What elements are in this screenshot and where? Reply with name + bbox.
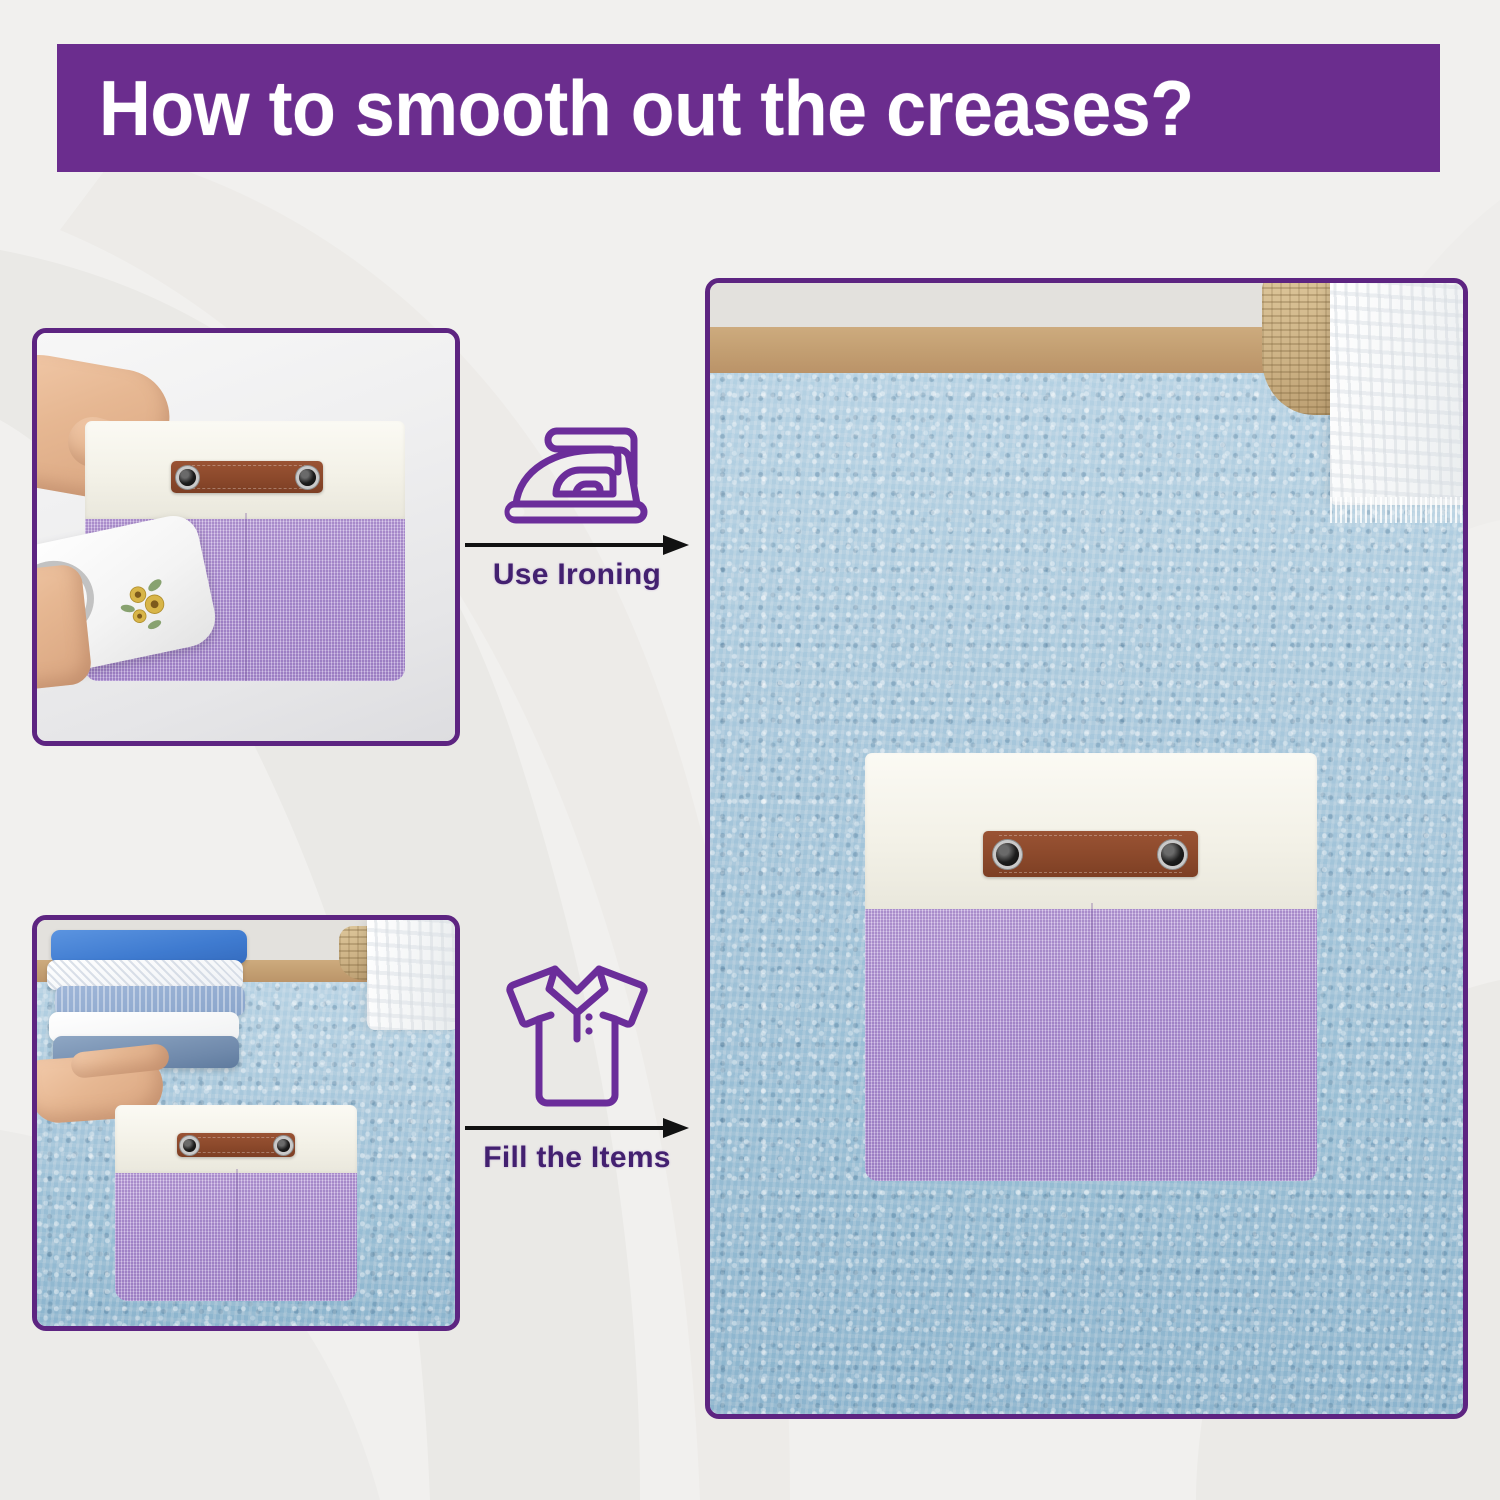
handle-grommet-right bbox=[1161, 843, 1184, 866]
white-curtain bbox=[367, 920, 459, 1030]
iron-icon bbox=[494, 412, 660, 532]
fill-photo bbox=[37, 920, 455, 1326]
basket-seam bbox=[236, 1169, 238, 1301]
curtain-fringe bbox=[1330, 497, 1468, 523]
folded-cloth-blue-top bbox=[51, 930, 247, 964]
basket-seam bbox=[1091, 903, 1093, 1181]
photo-panel-result bbox=[705, 278, 1468, 1419]
storage-basket-main bbox=[865, 753, 1317, 1181]
handle-grommet-left bbox=[996, 843, 1019, 866]
step-ironing: Use Ironing bbox=[463, 412, 691, 592]
photo-panel-ironing bbox=[32, 328, 460, 746]
step-label-ironing: Use Ironing bbox=[463, 558, 691, 592]
storage-basket-empty bbox=[115, 1105, 357, 1301]
title-banner: How to smooth out the creases? bbox=[57, 44, 1440, 172]
tshirt-icon bbox=[491, 955, 663, 1115]
handle-grommet-left bbox=[183, 1139, 196, 1152]
photo-panel-fill bbox=[32, 915, 460, 1331]
result-photo bbox=[710, 283, 1463, 1414]
right-arrow-icon bbox=[463, 532, 691, 558]
page-title: How to smooth out the creases? bbox=[99, 63, 1194, 154]
handle-grommet-right bbox=[277, 1139, 290, 1152]
handle-grommet-left bbox=[179, 469, 196, 486]
right-arrow-icon bbox=[463, 1115, 691, 1141]
step-label-fill: Fill the Items bbox=[463, 1141, 691, 1175]
handle-grommet-right bbox=[299, 469, 316, 486]
basket-seam bbox=[245, 513, 247, 681]
ironing-photo bbox=[37, 333, 455, 741]
white-curtain bbox=[1330, 279, 1468, 505]
step-fill: Fill the Items bbox=[463, 955, 691, 1175]
